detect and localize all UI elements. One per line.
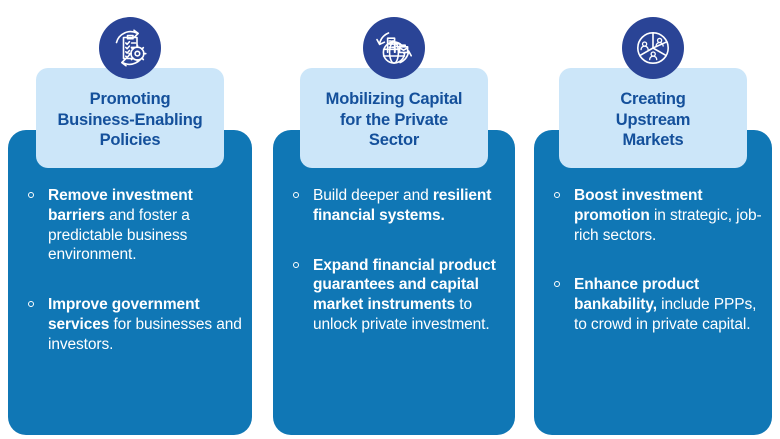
list-item: Improve government services for business… [26, 295, 242, 354]
pillar-creating-upstream-markets: Creating Upstream Markets Boost investme… [534, 0, 772, 439]
bullet-marker-icon [554, 281, 560, 287]
pillar-title-line: Policies [100, 131, 161, 149]
list-item-text: Remove investment barriers and foster a … [48, 187, 193, 263]
bullet-marker-icon [28, 301, 34, 307]
pillar-title-line: Promoting [90, 90, 171, 108]
bullet-marker-icon [293, 262, 299, 268]
bullet-marker-icon [28, 192, 34, 198]
pillar-bullet-list: Build deeper and resilient financial sys… [273, 186, 515, 335]
list-item-text: Boost investment promotion in strategic,… [574, 187, 762, 244]
pillar-bullet-list: Remove investment barriers and foster a … [8, 186, 252, 355]
list-item: Enhance product bankability, include PPP… [552, 275, 770, 334]
pillar-title: Promoting Business-Enabling Policies [57, 89, 202, 152]
pillar-title-line: Markets [623, 131, 684, 149]
pillar-mobilizing-capital-for-the-private-sector: Mobilizing Capital for the Private Secto… [273, 0, 515, 439]
pillar-title-line: Upstream [616, 111, 691, 129]
pillar-header-plaque: Creating Upstream Markets [559, 68, 747, 168]
list-item: Remove investment barriers and foster a … [26, 186, 242, 265]
pillar-bullet-list: Boost investment promotion in strategic,… [534, 186, 772, 335]
pillar-header-plaque: Mobilizing Capital for the Private Secto… [300, 68, 488, 168]
list-item: Boost investment promotion in strategic,… [552, 186, 770, 245]
pillar-title: Creating Upstream Markets [616, 89, 691, 152]
list-item: Expand financial product guarantees and … [291, 256, 505, 335]
bullet-marker-icon [554, 192, 560, 198]
list-item-text: Expand financial product guarantees and … [313, 257, 496, 333]
segmented-circle-people-icon [622, 17, 684, 79]
globe-city-briefcase-cycle-icon [363, 17, 425, 79]
pillar-title-line: Mobilizing Capital [326, 90, 463, 108]
three-pillar-infographic: Promoting Business-Enabling Policies Rem… [0, 0, 780, 439]
clipboard-checklist-gear-cycle-icon [99, 17, 161, 79]
pillar-promoting-business-enabling-policies: Promoting Business-Enabling Policies Rem… [8, 0, 252, 439]
list-item-text: Enhance product bankability, include PPP… [574, 276, 756, 333]
pillar-title-line: Business-Enabling [57, 111, 202, 129]
pillar-title-line: Creating [620, 90, 685, 108]
list-item-lead: Build deeper and [313, 187, 433, 204]
list-item-text: Build deeper and resilient financial sys… [313, 187, 491, 224]
bullet-marker-icon [293, 192, 299, 198]
list-item-text: Improve government services for business… [48, 296, 242, 353]
pillar-title-line: Sector [369, 131, 419, 149]
list-item: Build deeper and resilient financial sys… [291, 186, 505, 226]
pillar-header-plaque: Promoting Business-Enabling Policies [36, 68, 224, 168]
pillar-title: Mobilizing Capital for the Private Secto… [326, 89, 463, 152]
pillar-title-line: for the Private [340, 111, 448, 129]
